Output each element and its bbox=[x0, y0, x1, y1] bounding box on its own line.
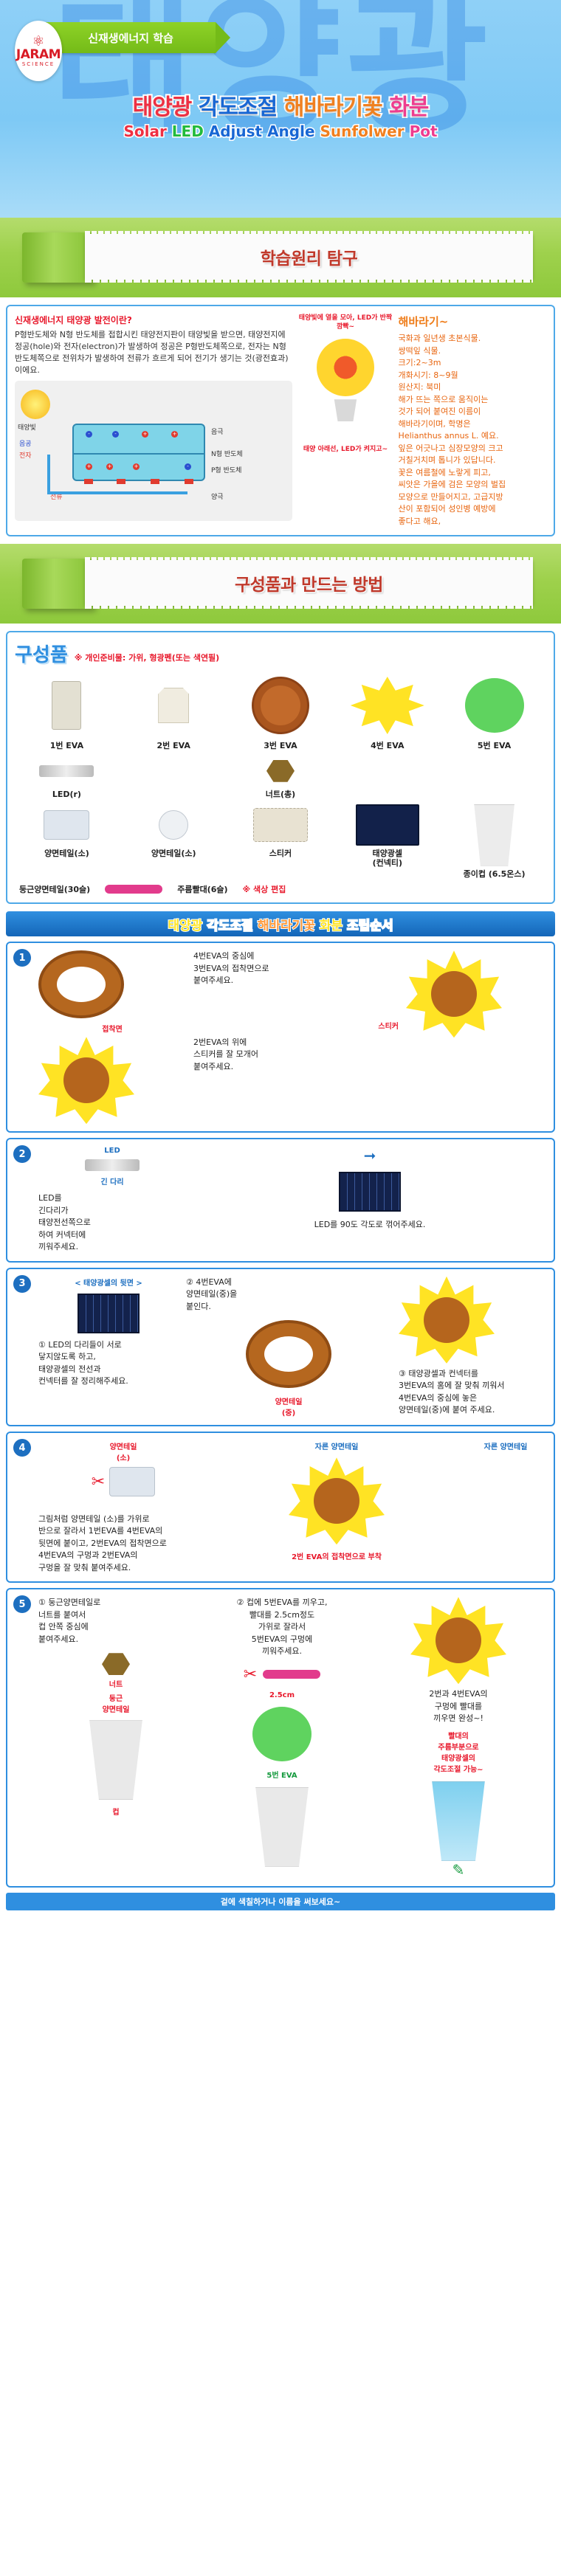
sticker-icon bbox=[253, 808, 308, 842]
step4-text-inline: 그림처럼 양면테일 (소)를 가위로 반으로 잘라서 1번EVA를 4번EVA의… bbox=[38, 1514, 167, 1572]
brand-name: JARAM bbox=[16, 49, 61, 62]
step-number: 4 bbox=[13, 1439, 31, 1457]
principle-right-column: 해바라기~ 국화과 일년생 초본식물. 쌍떡잎 식물. 크기:2~3m 개화시기… bbox=[399, 314, 546, 528]
sunflower-illustration bbox=[298, 334, 392, 445]
sunflower-fact: 원산지: 북미 bbox=[399, 381, 546, 394]
step1-callout-adhesive: 접착면 bbox=[38, 1023, 186, 1034]
sunflower-fact: 산이 포함되어 성인병 예방에 bbox=[399, 503, 546, 516]
step5-callout-cup: 컵 bbox=[38, 1806, 193, 1817]
sun-icon bbox=[21, 390, 50, 419]
category-ribbon-label: 신재생에너지 학습 bbox=[88, 30, 173, 46]
component-item: 종이컵 (6.5온스) bbox=[442, 803, 546, 880]
diagram-label-ptype: P형 반도체 bbox=[211, 465, 241, 474]
assembly-bar-part-4: 화분 bbox=[320, 915, 343, 933]
eva-leaf-icon bbox=[252, 1707, 312, 1761]
brand-logo: ⚛ JARAM SCIENCE bbox=[15, 21, 62, 81]
step5-text-1: ① 둥근양면테일로 너트를 붙여서 컵 안쪽 중심에 붙여주세요. bbox=[38, 1597, 193, 1646]
carrier-dot: + bbox=[142, 431, 148, 438]
step5-callout-eva5: 5번 EVA bbox=[201, 1769, 363, 1780]
principle-left-column: 신재생에너지 태양광 발전이란? P형반도체와 N형 반도체를 접합시킨 태양전… bbox=[15, 314, 292, 528]
page-title: 태양광 각도조절 해바라기꽃 화분 bbox=[0, 89, 561, 121]
contact-pad bbox=[117, 479, 125, 484]
assembly-header-bar: 태양광 각도조절 해바라기꽃 화분 조립순서 bbox=[6, 911, 555, 936]
sunflower-fact: 쌍떡잎 식물. bbox=[399, 345, 546, 358]
assembly-step-2: 2 LED 긴 다리 LED를 긴다리가 태양전선쪽으로 하여 커넥터에 끼워주… bbox=[6, 1138, 555, 1263]
step5-callout-round-tape: 둥근 양면테일 bbox=[38, 1692, 193, 1714]
sunflower-fact: Helianthus annus L. 예요. bbox=[399, 430, 546, 443]
double-tape-round-icon bbox=[159, 810, 188, 840]
paper-roll-decoration bbox=[22, 232, 93, 283]
component-item: 5번 EVA bbox=[442, 671, 546, 751]
junction-line bbox=[74, 453, 204, 455]
footer-text: 겉에 색칠하거나 이름을 써보세요~ bbox=[221, 1896, 340, 1907]
eva-sunflower-assembled-icon bbox=[406, 950, 502, 1037]
hero-header: 태양광 ⚛ JARAM SCIENCE 신재생에너지 학습 태양광 각도조절 해… bbox=[0, 0, 561, 218]
step3-callout-tape: 양면테일 (중) bbox=[186, 1395, 391, 1418]
sunflower-fact: 해가 뜨는 쪽으로 움직이는 bbox=[399, 394, 546, 407]
principle-body: P형반도체와 N형 반도체를 접합시킨 태양전지판이 태양빛을 받으면, 태양전… bbox=[15, 329, 292, 376]
step5-text-2: ② 컵에 5번EVA를 끼우고, 빨대를 2.5cm정도 가위로 잘라서 5번E… bbox=[201, 1597, 363, 1658]
eva-ring-icon bbox=[252, 677, 309, 734]
solar-cell-icon bbox=[356, 804, 419, 846]
title-part-3: 해바라기꽃 bbox=[284, 94, 382, 120]
step-number: 5 bbox=[13, 1595, 31, 1613]
footer-bar: 겉에 색칠하거나 이름을 써보세요~ bbox=[6, 1893, 555, 1910]
led-icon bbox=[85, 1159, 140, 1171]
subtitle-part-1: Solar bbox=[123, 122, 166, 140]
principle-panel: 신재생에너지 태양광 발전이란? P형반도체와 N형 반도체를 접합시킨 태양전… bbox=[6, 305, 555, 536]
paper-cup-icon bbox=[248, 1787, 316, 1867]
eva-sunflower-final-icon bbox=[410, 1597, 506, 1684]
component-item: 너트(총) bbox=[229, 754, 333, 800]
step5-art-left: ① 둥근양면테일로 너트를 붙여서 컵 안쪽 중심에 붙여주세요. 너트 둥근 … bbox=[38, 1597, 193, 1879]
nut-icon bbox=[266, 760, 295, 782]
eva-leaf-icon bbox=[465, 678, 524, 733]
component-label: 종이컵 (6.5온스) bbox=[442, 868, 546, 880]
component-item: 4번 EVA bbox=[335, 671, 439, 751]
eva-rect-icon bbox=[52, 681, 81, 730]
component-label: 5번 EVA bbox=[442, 739, 546, 751]
pot-icon bbox=[331, 399, 360, 421]
carrier-dot: + bbox=[133, 463, 140, 470]
step2-callout-led: LED bbox=[38, 1147, 186, 1155]
assembly-bar-part-2: 각도조절 bbox=[207, 915, 253, 933]
component-label: 4번 EVA bbox=[335, 739, 439, 751]
category-ribbon: 신재생에너지 학습 bbox=[46, 22, 216, 53]
step5-text-4: 빨대의 주름부분으로 태양광셀의 각도조절 가능~ bbox=[371, 1730, 546, 1774]
step4-text-1: 그림처럼 양면테일 (소)를 가위로 반으로 잘라서 1번EVA를 4번EVA의… bbox=[38, 1501, 208, 1574]
component-color-note: ※ 색상 편집 bbox=[243, 883, 286, 895]
component-label: 스티커 bbox=[229, 847, 333, 859]
step5-measurement: 2.5cm bbox=[201, 1691, 363, 1699]
legend-electron: 전자 bbox=[19, 450, 32, 460]
component-label: 2번 EVA bbox=[122, 739, 226, 751]
sunflower-fact: 좋다고 해요, bbox=[399, 516, 546, 528]
step4-callout-tape-small: 양면테일 (소) bbox=[38, 1440, 208, 1463]
arrow-right-icon: ➞ bbox=[193, 1147, 546, 1164]
component-item: 1번 EVA bbox=[15, 671, 119, 751]
component-label: 양면테일(소) bbox=[15, 847, 119, 859]
carrier-dot: + bbox=[106, 463, 113, 470]
component-label: 너트(총) bbox=[229, 788, 333, 800]
assembly-bar-part-3: 해바라기꽃 bbox=[258, 915, 315, 933]
scissors-icon: ✂ bbox=[92, 1473, 105, 1491]
assembly-step-5: 5 ① 둥근양면테일로 너트를 붙여서 컵 안쪽 중심에 붙여주세요. 너트 둥… bbox=[6, 1588, 555, 1888]
principle-heading: 신재생에너지 태양광 발전이란? bbox=[15, 314, 292, 326]
step2-callout-long-leg: 긴 다리 bbox=[38, 1175, 186, 1187]
solar-cell-cross-section: - - + + + + + - bbox=[72, 424, 205, 481]
component-item: 스티커 bbox=[229, 803, 333, 880]
torn-paper: 학습원리 탐구 bbox=[85, 234, 533, 280]
component-label: 양면테일(소) bbox=[122, 847, 226, 859]
banner-learning-principle: 학습원리 탐구 bbox=[0, 218, 561, 297]
eva-sunflower-icon bbox=[351, 677, 424, 734]
title-part-2: 각도조절 bbox=[199, 94, 277, 120]
contact-pad bbox=[151, 479, 159, 484]
step3-art-right: ③ 태양광셀과 컨넥터를 3번EVA의 홈에 잘 맞춰 끼워서 4번EVA의 중… bbox=[399, 1277, 546, 1418]
carrier-dot: - bbox=[185, 463, 191, 470]
straw-icon bbox=[105, 885, 162, 894]
caption-top: 태양빛에 열을 모아, LED가 반짝깜빡~ bbox=[298, 314, 392, 331]
diagram-label-cathode: 음극 bbox=[211, 427, 224, 436]
step3-text-3: ① LED의 다리들이 서로 닿지않도록 하고, 태양광셀의 전선과 컨넥터를 … bbox=[38, 1339, 179, 1388]
diagram-label-sunlight: 태양빛 bbox=[18, 422, 36, 432]
subtitle-part-3: Adjust Angle bbox=[209, 122, 315, 140]
assembly-bar-part-5: 조립순서 bbox=[347, 915, 393, 933]
component-spacer bbox=[122, 754, 226, 800]
step1-text-2: 2번EVA의 위에 스티커를 잘 모개어 붙여주세요. bbox=[193, 1037, 399, 1074]
component-label: 태양광셀 (컨넥티) bbox=[335, 847, 439, 869]
component-label: 1번 EVA bbox=[15, 739, 119, 751]
step3-callout-backside: < 태양광셀의 뒷면 > bbox=[38, 1277, 179, 1288]
subtitle-part-4: Sunfolwer bbox=[320, 122, 405, 140]
title-part-4: 화분 bbox=[389, 94, 428, 120]
component-label-straw: 주름빨대(6슬) bbox=[177, 883, 227, 895]
subtitle-part-2: LED bbox=[172, 122, 204, 140]
step4-callout-cut-tape-2: 자른 양면테일 bbox=[465, 1440, 546, 1451]
step2-text-1: LED를 90도 각도로 꺾어주세요. bbox=[193, 1219, 546, 1232]
step2-art-left: LED 긴 다리 LED를 긴다리가 태양전선쪽으로 하여 커넥터에 끼워주세요… bbox=[38, 1147, 186, 1254]
caption-bottom: 태양 아래선, LED가 켜지고~ bbox=[298, 445, 392, 454]
sunflower-fact: 모양으로 만들어지고, 고급지방 bbox=[399, 491, 546, 504]
sunflower-heading: 해바라기~ bbox=[399, 314, 546, 329]
circuit-wire bbox=[47, 455, 50, 493]
sunflower-fact: 개화시기: 8~9월 bbox=[399, 370, 546, 382]
step3-text-2: ③ 태양광셀과 컨넥터를 3번EVA의 홈에 잘 맞춰 끼워서 4번EVA의 중… bbox=[399, 1368, 546, 1417]
contact-pad bbox=[185, 479, 193, 484]
component-item: 양면테일(소) bbox=[122, 803, 226, 880]
principle-middle-column: 태양빛에 열을 모아, LED가 반짝깜빡~ 태양 아래선, LED가 켜지고~ bbox=[298, 314, 392, 528]
step-number: 2 bbox=[13, 1145, 31, 1163]
component-spacer bbox=[442, 754, 546, 800]
component-label: LED(r) bbox=[15, 788, 119, 800]
eva-ring-icon bbox=[38, 950, 124, 1018]
step1-art: 접착면 bbox=[38, 950, 186, 1124]
step4-callout-cut-tape-1: 자른 양면테일 bbox=[216, 1440, 458, 1451]
step4-art-left: 양면테일 (소) ✂ 그림처럼 양면테일 (소)를 가위로 반으로 잘라서 1번… bbox=[38, 1440, 208, 1574]
component-label-round-tape: 둥근양면테일(30슬) bbox=[19, 883, 90, 895]
component-item: 양면테일(소) bbox=[15, 803, 119, 880]
paper-cup-icon bbox=[82, 1720, 150, 1800]
brand-subtitle: SCIENCE bbox=[22, 61, 55, 67]
double-tape-small-icon bbox=[109, 1467, 155, 1496]
sunflower-fact: 국화과 일년생 초본식물. bbox=[399, 333, 546, 345]
atom-icon: ⚛ bbox=[32, 35, 44, 49]
components-row-3: 양면테일(소) 양면테일(소) 스티커 태양광셀 (컨넥티) 종이컵 (6.5온… bbox=[15, 803, 546, 880]
step-number: 3 bbox=[13, 1275, 31, 1293]
eva-ring-assembled-icon bbox=[246, 1320, 331, 1388]
torn-paper: 구성품과 만드는 방법 bbox=[85, 560, 533, 606]
step4-callout-attach: 2번 EVA의 접착면으로 부착 bbox=[216, 1550, 458, 1561]
components-row-1: 1번 EVA 2번 EVA 3번 EVA 4번 EVA 5번 EVA bbox=[15, 671, 546, 751]
sunflower-head-icon bbox=[317, 339, 374, 396]
step1-callout-sticker: 스티커 bbox=[193, 1020, 399, 1031]
semiconductor-diagram: 태양빛 음공 전자 - - + + + + + - bbox=[15, 381, 292, 521]
components-row-2: LED(r) 너트(총) bbox=[15, 754, 546, 800]
double-tape-small-icon bbox=[44, 810, 89, 840]
eva-sunflower-assembled-icon bbox=[289, 1457, 385, 1544]
step4-art-right: 자른 양면테일 bbox=[465, 1440, 546, 1574]
step3-text-1: ② 4번EVA에 양면테일(중)을 붙인다. bbox=[186, 1277, 391, 1313]
subtitle-part-5: Pot bbox=[410, 122, 438, 140]
assembly-bar-part-1: 태양광 bbox=[168, 915, 202, 933]
component-item: 3번 EVA bbox=[229, 671, 333, 751]
circuit-wire bbox=[47, 491, 187, 494]
components-title: 구성품 bbox=[15, 640, 68, 667]
component-item: LED(r) bbox=[15, 754, 119, 800]
solar-cell-icon bbox=[339, 1172, 401, 1212]
sunflower-fact: 것가 되어 붙여진 이름이 bbox=[399, 406, 546, 418]
step5-text-3: 2번과 4번EVA의 구멍에 빨대를 끼우면 완성~! bbox=[371, 1688, 546, 1725]
components-panel: 구성품 ※ 개인준비물: 가위, 형광펜(또는 색연필) 1번 EVA 2번 E… bbox=[6, 631, 555, 904]
carrier-dot: - bbox=[86, 431, 92, 438]
banner-components: 구성품과 만드는 방법 bbox=[0, 544, 561, 624]
diagram-label-ntype: N형 반도체 bbox=[211, 449, 243, 458]
sunflower-fact: 꽃은 여름철에 노랗게 피고, bbox=[399, 467, 546, 480]
step1-art-right bbox=[406, 950, 546, 1124]
poster-page: 태양광 ⚛ JARAM SCIENCE 신재생에너지 학습 태양광 각도조절 해… bbox=[0, 0, 561, 1919]
assembly-step-4: 4 양면테일 (소) ✂ 그림처럼 양면테일 (소)를 가위로 반으로 잘라서 … bbox=[6, 1432, 555, 1583]
assembly-step-3: 3 < 태양광셀의 뒷면 > ① LED의 다리들이 서로 닿지않도록 하고, … bbox=[6, 1268, 555, 1427]
nut-icon bbox=[102, 1653, 130, 1675]
step5-callout-nut: 너트 bbox=[38, 1678, 193, 1689]
sunflower-fact: 잎은 어긋나고 심장모양의 크고 bbox=[399, 443, 546, 455]
component-item: 2번 EVA bbox=[122, 671, 226, 751]
carrier-dot: - bbox=[112, 431, 119, 438]
eva-pentagon-icon bbox=[158, 688, 189, 723]
contact-pad bbox=[84, 479, 93, 484]
led-icon bbox=[39, 765, 94, 777]
component-spacer bbox=[335, 754, 439, 800]
carrier-dot: + bbox=[86, 463, 92, 470]
solar-cell-back-icon bbox=[78, 1294, 140, 1333]
step3-art-left: < 태양광셀의 뒷면 > ① LED의 다리들이 서로 닿지않도록 하고, 태양… bbox=[38, 1277, 179, 1418]
step2-instruction-detail: LED를 긴다리가 태양전선쪽으로 하여 커넥터에 끼워주세요. bbox=[38, 1192, 186, 1254]
page-subtitle: Solar LED Adjust Angle Sunfolwer Pot bbox=[0, 122, 561, 140]
step1-text-1: 4번EVA의 중심에 3번EVA의 접착면으로 붙여주세요. bbox=[193, 950, 399, 987]
component-item: 태양광셀 (컨넥티) bbox=[335, 803, 439, 880]
scissors-icon: ✂ bbox=[244, 1665, 257, 1684]
straw-icon bbox=[263, 1670, 320, 1679]
eva-sunflower-assembled-icon bbox=[399, 1277, 495, 1364]
decorated-pot-icon bbox=[424, 1781, 492, 1861]
banner-principle-label: 학습원리 탐구 bbox=[261, 244, 357, 269]
eva-sunflower-icon bbox=[38, 1037, 134, 1124]
sunflower-fact: 크기:2~3m bbox=[399, 357, 546, 370]
title-part-1: 태양광 bbox=[133, 94, 192, 120]
paper-cup-icon bbox=[468, 804, 521, 866]
legend-hole: 음공 bbox=[19, 438, 32, 448]
step-number: 1 bbox=[13, 949, 31, 967]
pencil-icon: ✎ bbox=[371, 1861, 546, 1879]
sunflower-fact: 거칠거치며 톱니가 있답니다. bbox=[399, 455, 546, 467]
assembly-step-1: 1 접착면 4번EVA의 중심에 3번EVA의 접착면으로 붙여주세요. 스티커… bbox=[6, 942, 555, 1133]
sunflower-fact: 씨앗은 가을에 검은 모양의 벌집 bbox=[399, 479, 546, 491]
carrier-dot: + bbox=[171, 431, 178, 438]
paper-roll-decoration bbox=[22, 559, 93, 609]
diagram-label-anode: 양극 bbox=[211, 491, 224, 501]
component-label: 3번 EVA bbox=[229, 739, 333, 751]
sunflower-fact: 해바라기이며, 학명은 bbox=[399, 418, 546, 431]
banner-components-label: 구성품과 만드는 방법 bbox=[235, 570, 383, 595]
components-note: ※ 개인준비물: 가위, 형광펜(또는 색연필) bbox=[75, 652, 219, 667]
